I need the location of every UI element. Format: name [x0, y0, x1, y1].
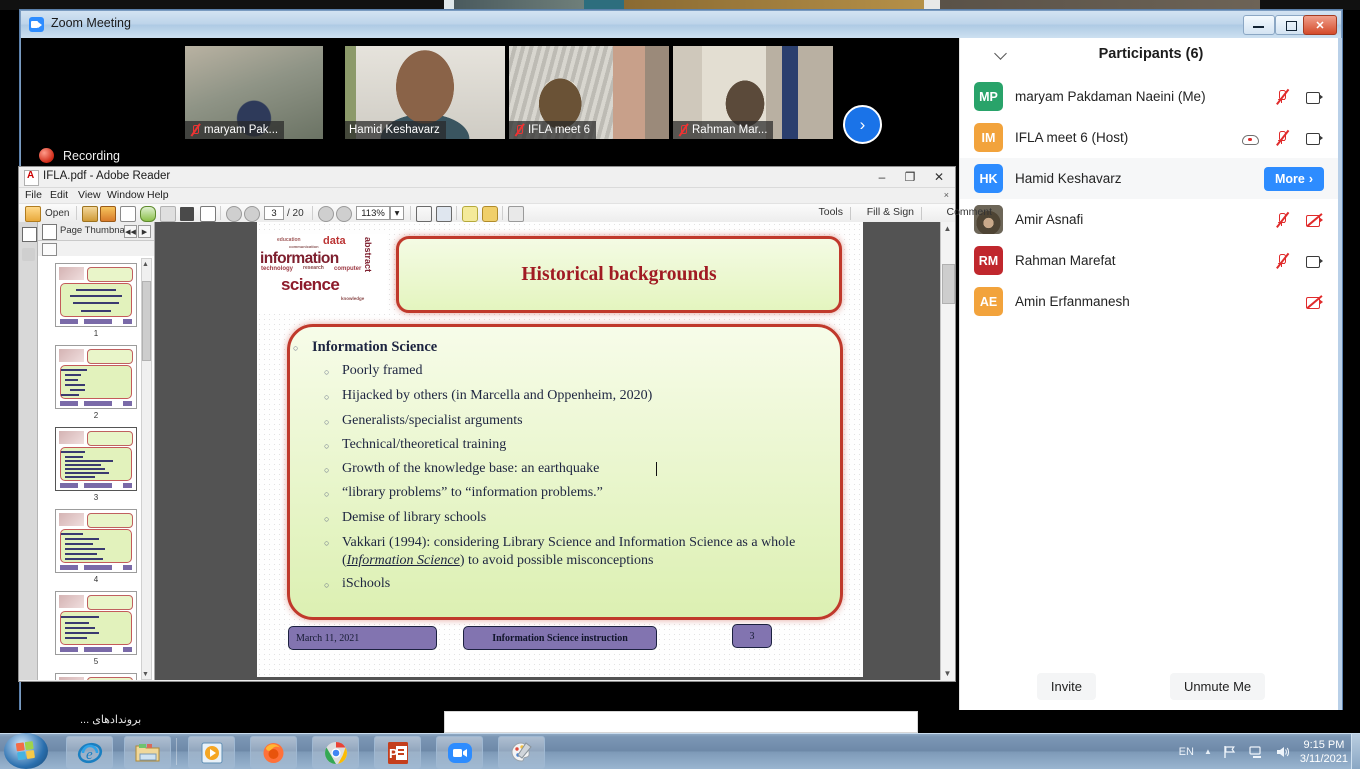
adobe-titlebar[interactable]: IFLA.pdf - Adobe Reader – ❐ ✕ [19, 167, 955, 188]
navigation-rail [19, 222, 38, 680]
show-hidden-icons-button[interactable]: ▲ [1204, 747, 1212, 756]
email-button[interactable] [200, 206, 216, 221]
menu-edit[interactable]: Edit [50, 189, 68, 201]
attachments-rail-icon[interactable] [22, 248, 35, 261]
plus-circle-icon [336, 206, 352, 222]
bullet-text-long: Vakkari (1994): considering Library Scie… [342, 535, 795, 568]
printer-icon [180, 207, 194, 221]
clock[interactable]: 9:15 PM 3/11/2021 [1300, 738, 1348, 766]
camera-off-icon[interactable] [1305, 212, 1324, 228]
page-thumbnail-current[interactable] [55, 427, 137, 491]
windows-logo-icon [15, 740, 36, 761]
scroll-up-icon[interactable]: ▲ [142, 259, 149, 269]
participants-panel: Participants (6) MP maryam Pakdaman Naei… [959, 38, 1342, 711]
highlight-icon [482, 206, 498, 222]
clock-time: 9:15 PM [1300, 738, 1348, 752]
thumbnail-options-icon[interactable] [42, 243, 57, 256]
minus-circle-icon [318, 206, 334, 222]
thumbnails-title: Page Thumbnails [60, 225, 134, 236]
thumbnails-options-bar [38, 241, 154, 257]
zoom-minimize-button[interactable] [1243, 15, 1275, 35]
zoom-icon [447, 741, 473, 765]
background-window-title: بروندادهای ... [80, 713, 141, 726]
thumbnails-scrollbar[interactable]: ▲ ▼ [141, 258, 152, 680]
mic-off-icon [189, 124, 201, 137]
invite-button[interactable]: Invite [1037, 673, 1096, 700]
participant-name: Rahman Marefat [1015, 253, 1273, 268]
thumbnails-list[interactable]: 1 2 [38, 256, 154, 680]
edit-pdf-button[interactable] [120, 206, 136, 221]
close-toolbar-icon[interactable]: × [944, 190, 949, 200]
slide-bullet-l1: ○ Information Science [312, 339, 437, 356]
camera-off-icon[interactable] [1305, 294, 1324, 310]
taskbar-paint[interactable] [498, 736, 545, 769]
adobe-minimize-button[interactable]: – [868, 167, 896, 187]
clock-date: 3/11/2021 [1300, 752, 1348, 766]
taskbar-file-explorer[interactable] [124, 736, 171, 769]
previous-page-button[interactable] [226, 206, 242, 221]
thumbnails-header: Page Thumbnails ◀◀ ▶ [38, 222, 154, 241]
participant-name: maryam Pakdaman Naeini (Me) [1015, 89, 1273, 104]
thumbnail-page-number: 5 [38, 657, 154, 666]
thumbnail-page-number: 4 [38, 575, 154, 584]
bullet-marker: ○ [324, 367, 329, 377]
arrow-down-icon [244, 206, 260, 222]
create-pdf-button[interactable] [82, 206, 98, 221]
menu-help[interactable]: Help [147, 189, 169, 201]
participant-name: IFLA meet 6 (Host) [1015, 130, 1241, 145]
zoom-window-title: Zoom Meeting [51, 16, 131, 30]
system-tray: EN ▲ 9:15 PM 3/11/2021 [1179, 734, 1360, 769]
slide-bullet-l2: ○ Demise of library schools [342, 510, 486, 526]
filmstrip-next-button[interactable]: › [843, 105, 882, 144]
paint-icon [509, 741, 534, 765]
camera-on-icon[interactable] [1305, 89, 1324, 105]
taskbar-firefox[interactable] [250, 736, 297, 769]
video-tile[interactable]: Hamid Keshavarz [345, 46, 505, 139]
thumbnail-page-number: 3 [38, 493, 154, 502]
video-tile-name: Rahman Mar... [692, 124, 767, 136]
sticky-note-button[interactable] [462, 206, 478, 221]
print-button[interactable] [180, 206, 194, 221]
fill-and-sign-button[interactable]: Fill & Sign [867, 206, 914, 218]
powerpoint-icon: P [387, 741, 409, 765]
participant-name: Amir Asnafi [1015, 212, 1273, 227]
participant-name: Hamid Keshavarz [1015, 171, 1264, 186]
bullet-text: Demise of library schools [342, 510, 486, 525]
avatar: HK [974, 164, 1003, 193]
fit-width-icon [416, 206, 432, 222]
more-button-label: More [1275, 172, 1305, 186]
wordcloud-image: education data communication information… [259, 234, 387, 314]
slide-footer-date: March 11, 2021 [288, 626, 437, 650]
media-player-icon [200, 741, 224, 765]
thumbnail-page-number: 1 [38, 329, 154, 338]
adobe-main-area: Page Thumbnails ◀◀ ▶ 1 [19, 222, 955, 680]
thumbnail-page-number: 2 [38, 411, 154, 420]
fit-page-button[interactable] [436, 206, 452, 221]
avatar: AE [974, 287, 1003, 316]
video-filmstrip: maryam Pak... Hamid Keshavarz IFLA meet … [21, 38, 959, 138]
slide-bullet-l2: ○ Poorly framed [342, 363, 422, 379]
send-cloud-button[interactable] [140, 206, 156, 221]
page-thumbnails-rail-icon[interactable] [22, 227, 37, 242]
envelope-icon [200, 206, 216, 222]
thumbnails-prev-button[interactable]: ◀◀ [124, 225, 137, 238]
slide-title-box: Historical backgrounds [396, 236, 842, 313]
bullet-marker: ○ [324, 489, 329, 499]
bullet-emphasis: Information Science [347, 553, 460, 568]
bullet-marker: ○ [324, 392, 329, 402]
bullet-text: Technical/theoretical training [342, 437, 506, 452]
participants-scrollbar[interactable] [1338, 38, 1342, 711]
svg-text:e: e [86, 747, 93, 763]
bullet-marker: ○ [324, 417, 329, 427]
video-tile-name: Hamid Keshavarz [349, 124, 440, 136]
highlight-button[interactable] [482, 206, 498, 221]
camera-on-icon[interactable] [1305, 253, 1324, 269]
taskbar-internet-explorer[interactable]: e [66, 736, 113, 769]
slide-bullet-l2: ○ “library problems” to “information pro… [342, 485, 603, 501]
tools-button[interactable]: Tools [818, 206, 843, 218]
comment-button[interactable]: Comment [946, 206, 992, 218]
participant-row[interactable]: RM Rahman Marefat [960, 240, 1342, 281]
mic-off-icon [513, 124, 525, 137]
bullet-marker: ○ [324, 580, 329, 590]
participant-row[interactable]: AE Amin Erfanmanesh [960, 281, 1342, 322]
internet-explorer-icon: e [77, 740, 103, 766]
text-caret [656, 462, 657, 476]
bullet-text: Growth of the knowledge base: an earthqu… [342, 461, 599, 476]
slide-bullet-l2: ○ iSchools [342, 576, 390, 592]
export-pdf-icon [100, 206, 116, 222]
slide-bullet-l2: ○ Technical/theoretical training [342, 437, 506, 453]
cloud-icon [140, 206, 156, 222]
adobe-close-button[interactable]: ✕ [925, 167, 953, 187]
expand-arrows-icon [508, 206, 524, 222]
video-tile-label: maryam Pak... [185, 121, 284, 139]
more-button[interactable]: More › [1264, 167, 1324, 191]
taskbar-chrome[interactable] [312, 736, 359, 769]
slide-title: Historical backgrounds [521, 264, 716, 286]
mic-muted-icon[interactable] [1273, 253, 1292, 269]
network-icon[interactable] [1248, 744, 1264, 760]
page-number-input[interactable]: 3 [264, 206, 284, 220]
page-thumbnail[interactable] [55, 263, 137, 327]
file-explorer-icon [135, 742, 161, 764]
flag-icon[interactable] [1222, 744, 1238, 760]
participants-footer: Invite Unmute Me [960, 661, 1342, 711]
participant-row[interactable]: IM IFLA meet 6 (Host) [960, 117, 1342, 158]
scroll-down-icon[interactable]: ▼ [142, 669, 149, 679]
fit-width-button[interactable] [416, 206, 432, 221]
menu-view[interactable]: View [78, 189, 101, 201]
avatar: RM [974, 246, 1003, 275]
page-thumbnail[interactable] [55, 345, 137, 409]
chevron-right-icon: › [1309, 172, 1313, 186]
video-tile-name: IFLA meet 6 [528, 124, 590, 136]
zoom-dropdown-button[interactable]: ▾ [390, 206, 404, 220]
participant-row[interactable]: MP maryam Pakdaman Naeini (Me) [960, 76, 1342, 117]
slide-bullet-l2: ○ Growth of the knowledge base: an earth… [342, 461, 599, 477]
pencil-icon [120, 206, 136, 222]
zoom-close-button[interactable]: ✕ [1303, 15, 1337, 35]
save-button[interactable] [160, 206, 176, 221]
background-video-strip [0, 0, 1360, 10]
participant-row[interactable]: Amir Asnafi [960, 199, 1342, 240]
thumbnails-next-button[interactable]: ▶ [138, 225, 151, 238]
zoom-titlebar[interactable]: Zoom Meeting ✕ [21, 11, 1341, 39]
participants-header: Participants (6) [960, 38, 1342, 74]
zoom-stage [21, 683, 959, 711]
video-tile[interactable]: maryam Pak... [185, 46, 323, 139]
windows-taskbar: e [0, 733, 1360, 769]
adobe-logo-icon [24, 170, 39, 186]
slide-bullet-l2: ○ Vakkari (1994): considering Library Sc… [342, 534, 812, 570]
open-button[interactable]: Open [25, 206, 69, 221]
video-tile-name: maryam Pak... [204, 124, 278, 136]
volume-icon[interactable] [1274, 744, 1290, 760]
create-pdf-icon [82, 206, 98, 222]
adobe-menubar: File Edit View Window Help × [19, 188, 955, 204]
scroll-down-icon[interactable]: ▼ [942, 667, 953, 680]
chrome-icon [323, 740, 349, 766]
taskbar-media-player[interactable] [188, 736, 235, 769]
taskbar-powerpoint[interactable]: P [374, 736, 421, 769]
avatar: MP [974, 82, 1003, 111]
chevron-right-icon: › [860, 115, 866, 135]
participants-list: MP maryam Pakdaman Naeini (Me) IM IFLA m… [960, 76, 1342, 661]
adobe-toolbar: Open 3 / 20 113% ▾ [19, 204, 955, 224]
bullet-text: “library problems” to “information probl… [342, 485, 603, 500]
pdf-page: education data communication information… [257, 222, 863, 677]
mic-muted-icon[interactable] [1273, 89, 1292, 105]
cloud-recording-icon [1241, 130, 1260, 146]
scrollbar-thumb[interactable] [942, 264, 955, 304]
camera-on-icon[interactable] [1305, 130, 1324, 146]
comment-icon [462, 206, 478, 222]
document-viewport[interactable]: education data communication information… [155, 222, 955, 680]
save-disk-icon [160, 206, 176, 222]
svg-text:P: P [389, 746, 398, 761]
slide-footer-page-number: 3 [732, 624, 772, 648]
slide-bullet-l2: ○ Generalists/specialist arguments [342, 413, 523, 429]
bullet-marker: ○ [324, 538, 329, 550]
avatar: IM [974, 123, 1003, 152]
adobe-reader-window: IFLA.pdf - Adobe Reader – ❐ ✕ File Edit … [18, 166, 956, 682]
start-button[interactable] [4, 733, 48, 769]
bullet-text: Poorly framed [342, 363, 422, 378]
bullet-marker: ○ [293, 343, 298, 353]
video-tile[interactable]: IFLA meet 6 [509, 46, 669, 139]
bullet-marker: ○ [324, 465, 329, 475]
record-dot-icon [39, 148, 54, 163]
fit-page-icon [436, 206, 452, 222]
mic-muted-icon[interactable] [1273, 130, 1292, 146]
firefox-icon [261, 740, 286, 765]
participant-name: Amin Erfanmanesh [1015, 294, 1305, 309]
open-label: Open [45, 208, 69, 219]
scroll-up-icon[interactable]: ▲ [942, 222, 953, 235]
next-page-button[interactable] [244, 206, 260, 221]
recording-label: Recording [63, 149, 120, 163]
scrollbar-thumb[interactable] [142, 281, 151, 361]
language-indicator[interactable]: EN [1179, 746, 1194, 758]
page-thumbnail[interactable] [55, 673, 137, 680]
bullet-text: Information Science [312, 339, 437, 355]
page-thumbnail[interactable] [55, 591, 137, 655]
zoom-in-button[interactable] [336, 206, 352, 221]
recording-indicator: Recording [39, 148, 120, 163]
adobe-maximize-button[interactable]: ❐ [896, 167, 924, 187]
page-thumbnail[interactable] [55, 509, 137, 573]
mic-off-icon [677, 124, 689, 137]
unmute-me-button[interactable]: Unmute Me [1170, 673, 1265, 700]
folder-icon [25, 206, 41, 222]
page-total-label: / 20 [287, 206, 304, 221]
video-tile-label: Rahman Mar... [673, 121, 773, 139]
taskbar-zoom[interactable] [436, 736, 483, 769]
background-window-panel [444, 711, 918, 733]
slide-body-box: ○ Information Science ○ Poorly framed ○ … [287, 324, 843, 620]
video-tile-label: IFLA meet 6 [509, 121, 596, 139]
bullet-marker: ○ [324, 441, 329, 451]
bullet-text: Generalists/specialist arguments [342, 413, 523, 428]
video-tile[interactable]: Rahman Mar... [673, 46, 833, 139]
slide-bullet-l2: ○ Hijacked by others (in Marcella and Op… [342, 388, 652, 404]
document-scrollbar[interactable]: ▲ ▼ [940, 222, 955, 680]
zoom-out-button[interactable] [318, 206, 334, 221]
bullet-text: iSchools [342, 576, 390, 591]
zoom-level-input[interactable]: 113% [356, 206, 390, 220]
bullet-marker: ○ [324, 514, 329, 524]
participant-row-selected[interactable]: HK Hamid Keshavarz More › [960, 158, 1342, 199]
zoom-app-icon [29, 17, 44, 32]
video-tile-label: Hamid Keshavarz [345, 121, 446, 139]
bullet-text: Hijacked by others (in Marcella and Oppe… [342, 388, 652, 403]
menu-window[interactable]: Window [107, 189, 144, 201]
fullscreen-button[interactable] [508, 206, 524, 221]
participants-title: Participants (6) [960, 46, 1342, 62]
adobe-window-title: IFLA.pdf - Adobe Reader [43, 170, 170, 182]
export-pdf-button[interactable] [100, 206, 116, 221]
menu-file[interactable]: File [25, 189, 42, 201]
page-thumbnails-panel: Page Thumbnails ◀◀ ▶ 1 [38, 222, 155, 680]
page-icon [42, 224, 57, 240]
show-desktop-button[interactable] [1351, 734, 1360, 769]
arrow-up-icon [226, 206, 242, 222]
slide-footer-title: Information Science instruction [463, 626, 657, 650]
mic-muted-icon[interactable] [1273, 212, 1292, 228]
